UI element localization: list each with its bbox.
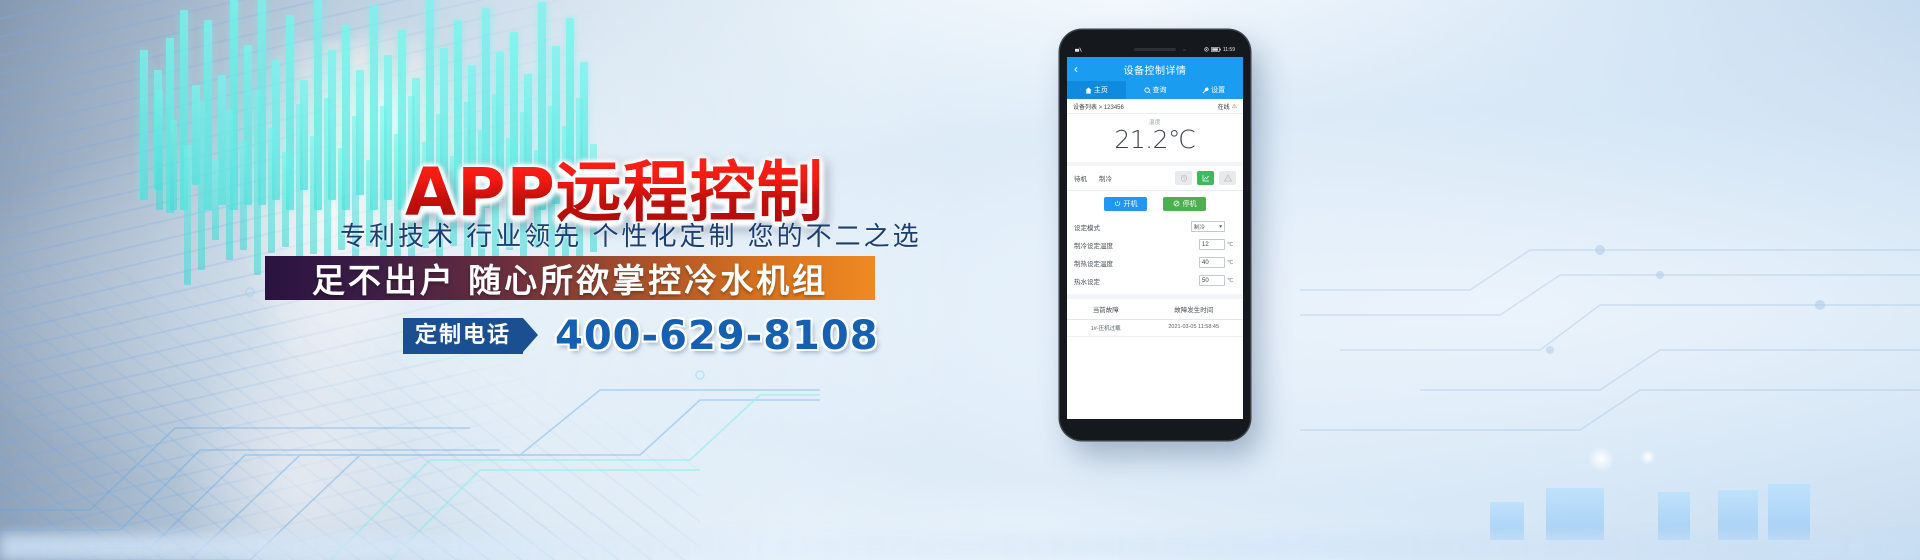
power-icon	[1114, 200, 1121, 207]
tab-home[interactable]: 主页	[1067, 81, 1126, 99]
hot-water-input[interactable]: 50	[1199, 275, 1225, 286]
fault-time: 2021-03-05 11:58:45	[1144, 324, 1243, 332]
warning-icon-button[interactable]	[1219, 171, 1236, 185]
phone-camera	[1183, 49, 1186, 52]
tab-query[interactable]: 查询	[1126, 81, 1185, 99]
alarm-icon	[1180, 174, 1188, 182]
app-header: ‹ 设备控制详情	[1067, 57, 1243, 81]
temperature-card: 温度 21.2℃	[1067, 114, 1243, 166]
setting-unit-cool-temp: ℃	[1227, 242, 1236, 248]
warning-icon: ⚠	[1232, 103, 1237, 110]
tel-tag-label: 定制电话	[403, 318, 523, 353]
phone-speaker	[1134, 48, 1176, 51]
temperature-value: 21.2℃	[1067, 126, 1243, 155]
battery-icon	[1211, 47, 1221, 52]
power-off-label: 停机	[1183, 199, 1197, 209]
state-cooling: 制冷	[1099, 173, 1112, 183]
setting-label-hot-water: 热水设定	[1074, 276, 1100, 286]
control-buttons: 开机 停机	[1067, 191, 1243, 218]
setting-row-cool-temp: 制冷设定温度 12 ℃	[1067, 236, 1243, 254]
cool-temp-input[interactable]: 12	[1199, 239, 1225, 250]
status-time: 11:59	[1223, 47, 1235, 53]
tab-bar: 主页 查询 设置	[1067, 81, 1243, 99]
setting-label-mode: 设定模式	[1074, 222, 1100, 232]
chart-icon-button[interactable]	[1197, 171, 1214, 185]
online-status: 在线 ⚠	[1218, 102, 1237, 111]
light-flare	[1588, 446, 1614, 472]
tel-number[interactable]: 400-629-8108	[555, 313, 879, 359]
wrench-icon	[1202, 87, 1209, 94]
state-standby: 待机	[1074, 173, 1087, 183]
setting-label-heat-temp: 制热设定温度	[1074, 258, 1113, 268]
warning-icon	[1224, 174, 1232, 182]
power-on-label: 开机	[1124, 199, 1138, 209]
breadcrumb: 设备列表 > 123456 在线 ⚠	[1067, 99, 1243, 114]
online-status-label: 在线	[1218, 102, 1230, 111]
phone-mockup: 11:59 ‹ 设备控制详情 主页 查询 设置	[1060, 30, 1250, 440]
setting-label-cool-temp: 制冷设定温度	[1074, 240, 1113, 250]
tab-query-label: 查询	[1153, 85, 1167, 95]
tab-settings-label: 设置	[1211, 85, 1225, 95]
subtitle: 专利技术 行业领先 个性化定制 您的不二之选	[340, 216, 922, 253]
fault-col-current: 当前故障	[1067, 304, 1144, 314]
location-icon	[1204, 47, 1209, 53]
fault-table-header: 当前故障 故障发生时间	[1067, 299, 1243, 320]
chart-icon	[1202, 174, 1210, 182]
setting-row-heat-temp: 制热设定温度 40 ℃	[1067, 254, 1243, 272]
signal-icon	[1075, 47, 1082, 53]
tab-settings[interactable]: 设置	[1184, 81, 1243, 99]
contact-row: 定制电话 400-629-8108	[403, 313, 879, 359]
promo-banner: APP远程控制 专利技术 行业领先 个性化定制 您的不二之选 足不出户 随心所欲…	[0, 0, 1920, 560]
tagline-band: 足不出户 随心所欲掌控冷水机组	[265, 256, 875, 300]
setting-unit-hot-water: ℃	[1227, 278, 1236, 284]
mode-select-value: 制冷	[1194, 223, 1205, 231]
breadcrumb-path[interactable]: 设备列表 > 123456	[1073, 102, 1124, 111]
tagline-text: 足不出户 随心所欲掌控冷水机组	[312, 254, 828, 302]
table-row[interactable]: 1#-压机过载 2021-03-05 11:58:45	[1067, 320, 1243, 337]
phone-screen: ‹ 设备控制详情 主页 查询 设置 设备列表 > 123456	[1067, 57, 1243, 419]
fault-col-time: 故障发生时间	[1144, 304, 1243, 314]
headline-block: APP远程控制 专利技术 行业领先 个性化定制 您的不二之选 足不出户 随心所欲…	[0, 0, 1000, 560]
tab-home-label: 主页	[1094, 85, 1108, 95]
stop-icon	[1173, 200, 1180, 207]
setting-row-mode: 设定模式 制冷 ▾	[1067, 218, 1243, 236]
alarm-icon-button[interactable]	[1175, 171, 1192, 185]
fault-name: 1#-压机过载	[1067, 324, 1144, 332]
mode-select[interactable]: 制冷 ▾	[1191, 221, 1225, 232]
setting-unit-heat-temp: ℃	[1227, 260, 1236, 266]
chevron-down-icon: ▾	[1219, 224, 1222, 230]
search-icon	[1144, 87, 1151, 94]
setting-row-hot-water: 热水设定 50 ℃	[1067, 272, 1243, 290]
power-on-button[interactable]: 开机	[1104, 197, 1147, 211]
heat-temp-input[interactable]: 40	[1199, 257, 1225, 268]
app-title: 设备控制详情	[1067, 62, 1243, 77]
power-off-button[interactable]: 停机	[1163, 197, 1206, 211]
light-flare	[1640, 449, 1656, 465]
home-icon	[1085, 87, 1092, 94]
chevron-left-icon[interactable]: ‹	[1074, 63, 1078, 75]
device-state-row: 待机 制冷	[1067, 166, 1243, 191]
